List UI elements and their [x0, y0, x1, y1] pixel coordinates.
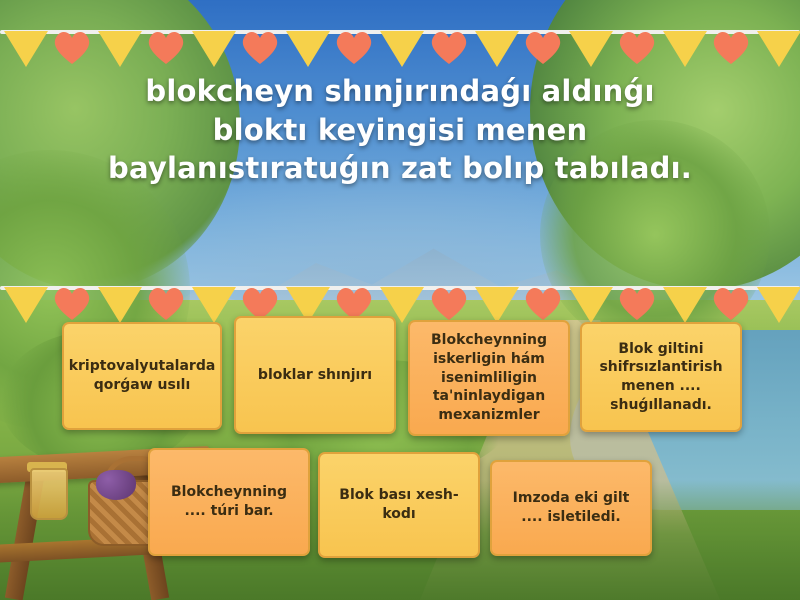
answer-card-label: bloklar shınjırı [258, 366, 372, 385]
answer-card[interactable]: Blok giltini shifrsızlantirish menen ...… [580, 322, 742, 432]
answer-card[interactable]: Imzoda eki gilt .... isletiledi. [490, 460, 652, 556]
answer-card[interactable]: bloklar shınjırı [234, 316, 396, 434]
grapes [96, 470, 136, 500]
answer-card[interactable]: Blokcheynning .... túri bar. [148, 448, 310, 556]
answer-card[interactable]: kriptovalyutalarda qorǵaw usılı [62, 322, 222, 430]
game-stage: blokcheyn shınjırındaǵı aldınǵı bloktı k… [0, 0, 800, 600]
answer-card-label: Blok giltini shifrsızlantirish menen ...… [591, 340, 731, 414]
answer-card-label: Blokcheynning .... túri bar. [159, 483, 299, 520]
answer-card-label: Imzoda eki gilt .... isletiledi. [501, 489, 641, 526]
answer-card-label: Blokcheynning iskerligin hám isenimlilig… [419, 331, 559, 424]
answer-card-label: Blok bası xesh-kodı [329, 486, 469, 523]
answer-card-label: kriptovalyutalarda qorǵaw usılı [69, 357, 216, 394]
question-prompt: blokcheyn shınjırındaǵı aldınǵı bloktı k… [100, 72, 700, 188]
answer-card[interactable]: Blok bası xesh-kodı [318, 452, 480, 558]
answer-card[interactable]: Blokcheynning iskerligin hám isenimlilig… [408, 320, 570, 436]
honey-jar [30, 468, 68, 520]
